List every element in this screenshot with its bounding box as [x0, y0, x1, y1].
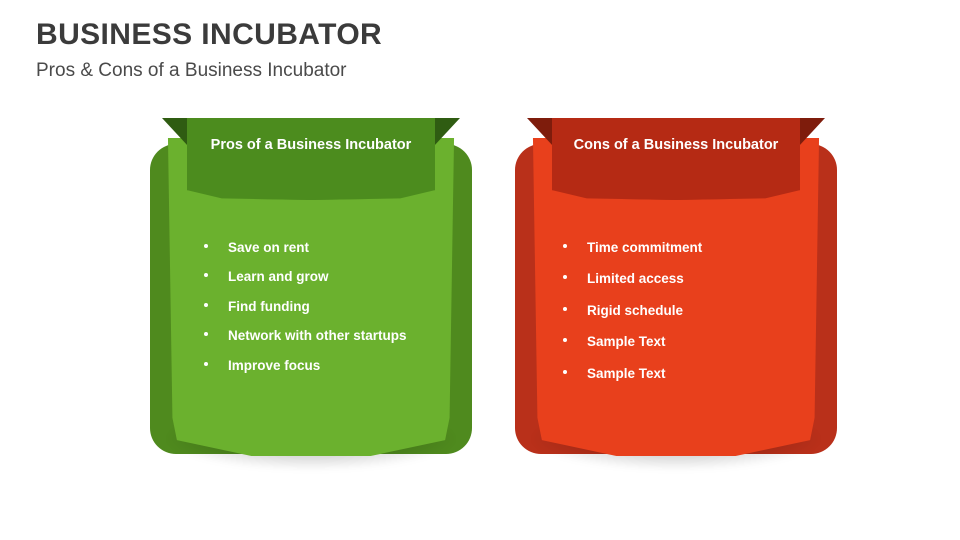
list-item-label: Improve focus: [228, 358, 320, 373]
list-item: Sample Text: [561, 366, 776, 382]
bullet-dot-icon: [563, 307, 567, 311]
list-item-label: Save on rent: [228, 240, 309, 255]
bullet-dot-icon: [204, 362, 208, 366]
list-item: Network with other startups: [202, 328, 417, 344]
list-item: Save on rent: [202, 240, 417, 256]
list-item-label: Limited access: [587, 271, 684, 286]
list-item-label: Learn and grow: [228, 269, 329, 284]
panel-pros[interactable]: Pros of a Business Incubator Save on ren…: [146, 118, 476, 478]
panel-cons[interactable]: Cons of a Business Incubator Time commit…: [511, 118, 841, 478]
bullet-dot-icon: [563, 275, 567, 279]
list-item: Improve focus: [202, 358, 417, 374]
bullet-dot-icon: [563, 244, 567, 248]
list-item: Find funding: [202, 299, 417, 315]
bullet-dot-icon: [204, 303, 208, 307]
list-item: Sample Text: [561, 334, 776, 350]
panel-pros-heading: Pros of a Business Incubator: [187, 136, 435, 155]
list-item: Time commitment: [561, 240, 776, 256]
list-item-label: Sample Text: [587, 366, 666, 381]
list-item: Learn and grow: [202, 269, 417, 285]
panel-cons-heading: Cons of a Business Incubator: [552, 136, 800, 155]
list-item-label: Network with other startups: [228, 328, 407, 343]
list-item: Limited access: [561, 271, 776, 287]
panel-cons-bullet-list: Time commitment Limited access Rigid sch…: [561, 240, 776, 397]
panel-pros-ribbon: Pros of a Business Incubator: [187, 118, 435, 200]
list-item-label: Time commitment: [587, 240, 702, 255]
list-item-label: Find funding: [228, 299, 310, 314]
bullet-dot-icon: [563, 370, 567, 374]
bullet-dot-icon: [204, 332, 208, 336]
list-item-label: Rigid schedule: [587, 303, 683, 318]
slide-canvas: BUSINESS INCUBATOR Pros & Cons of a Busi…: [0, 0, 960, 540]
list-item-label: Sample Text: [587, 334, 666, 349]
panel-cons-ribbon-body: [552, 118, 800, 200]
list-item: Rigid schedule: [561, 303, 776, 319]
bullet-dot-icon: [563, 338, 567, 342]
panel-cons-ribbon: Cons of a Business Incubator: [552, 118, 800, 200]
panel-pros-bullet-list: Save on rent Learn and grow Find funding…: [202, 240, 417, 387]
page-subtitle: Pros & Cons of a Business Incubator: [36, 60, 347, 82]
bullet-dot-icon: [204, 244, 208, 248]
bullet-dot-icon: [204, 273, 208, 277]
panel-pros-ribbon-body: [187, 118, 435, 200]
page-title: BUSINESS INCUBATOR: [36, 18, 382, 52]
